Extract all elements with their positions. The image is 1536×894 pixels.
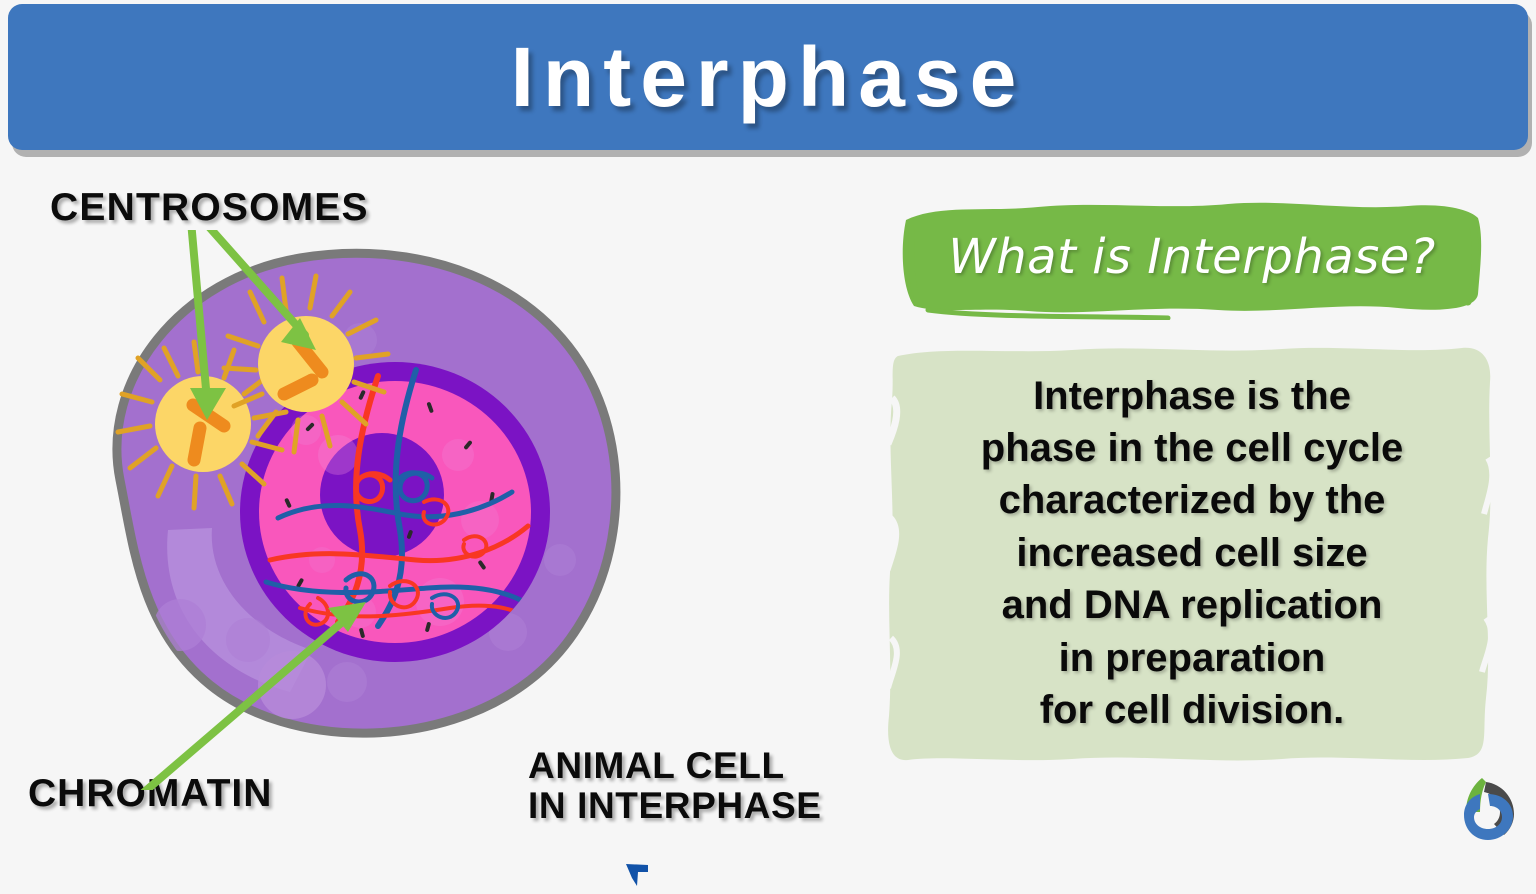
definition-line: for cell division.: [1040, 684, 1345, 736]
cell-diagram-area: CENTROSOMES CHROMATIN ANIMAL CELLIN INTE…: [0, 160, 880, 864]
definition-text: Interphase is the phase in the cell cycl…: [882, 338, 1502, 770]
question-banner: What is Interphase?: [898, 198, 1486, 320]
label-centrosomes: CENTROSOMES: [50, 186, 369, 230]
header-banner: Interphase: [8, 4, 1528, 150]
animal-cell-illustration: [60, 230, 680, 790]
definition-line: characterized by the: [999, 474, 1386, 526]
biology-online-logo[interactable]: [1452, 772, 1524, 844]
definition-line: Interphase is the: [1033, 370, 1351, 422]
caption-line-2: IN INTERPHASE: [528, 785, 822, 826]
definition-line: phase in the cell cycle: [981, 422, 1403, 474]
definition-line: in preparation: [1059, 632, 1326, 684]
info-panel: What is Interphase? Interphase is the ph…: [874, 190, 1514, 790]
definition-line: increased cell size: [1016, 527, 1367, 579]
cursor-icon: [622, 860, 656, 894]
question-banner-text: What is Interphase?: [898, 198, 1486, 320]
definition-box: Interphase is the phase in the cell cycl…: [882, 338, 1502, 770]
definition-line: and DNA replication: [1002, 579, 1383, 631]
page-title: Interphase: [511, 35, 1026, 119]
